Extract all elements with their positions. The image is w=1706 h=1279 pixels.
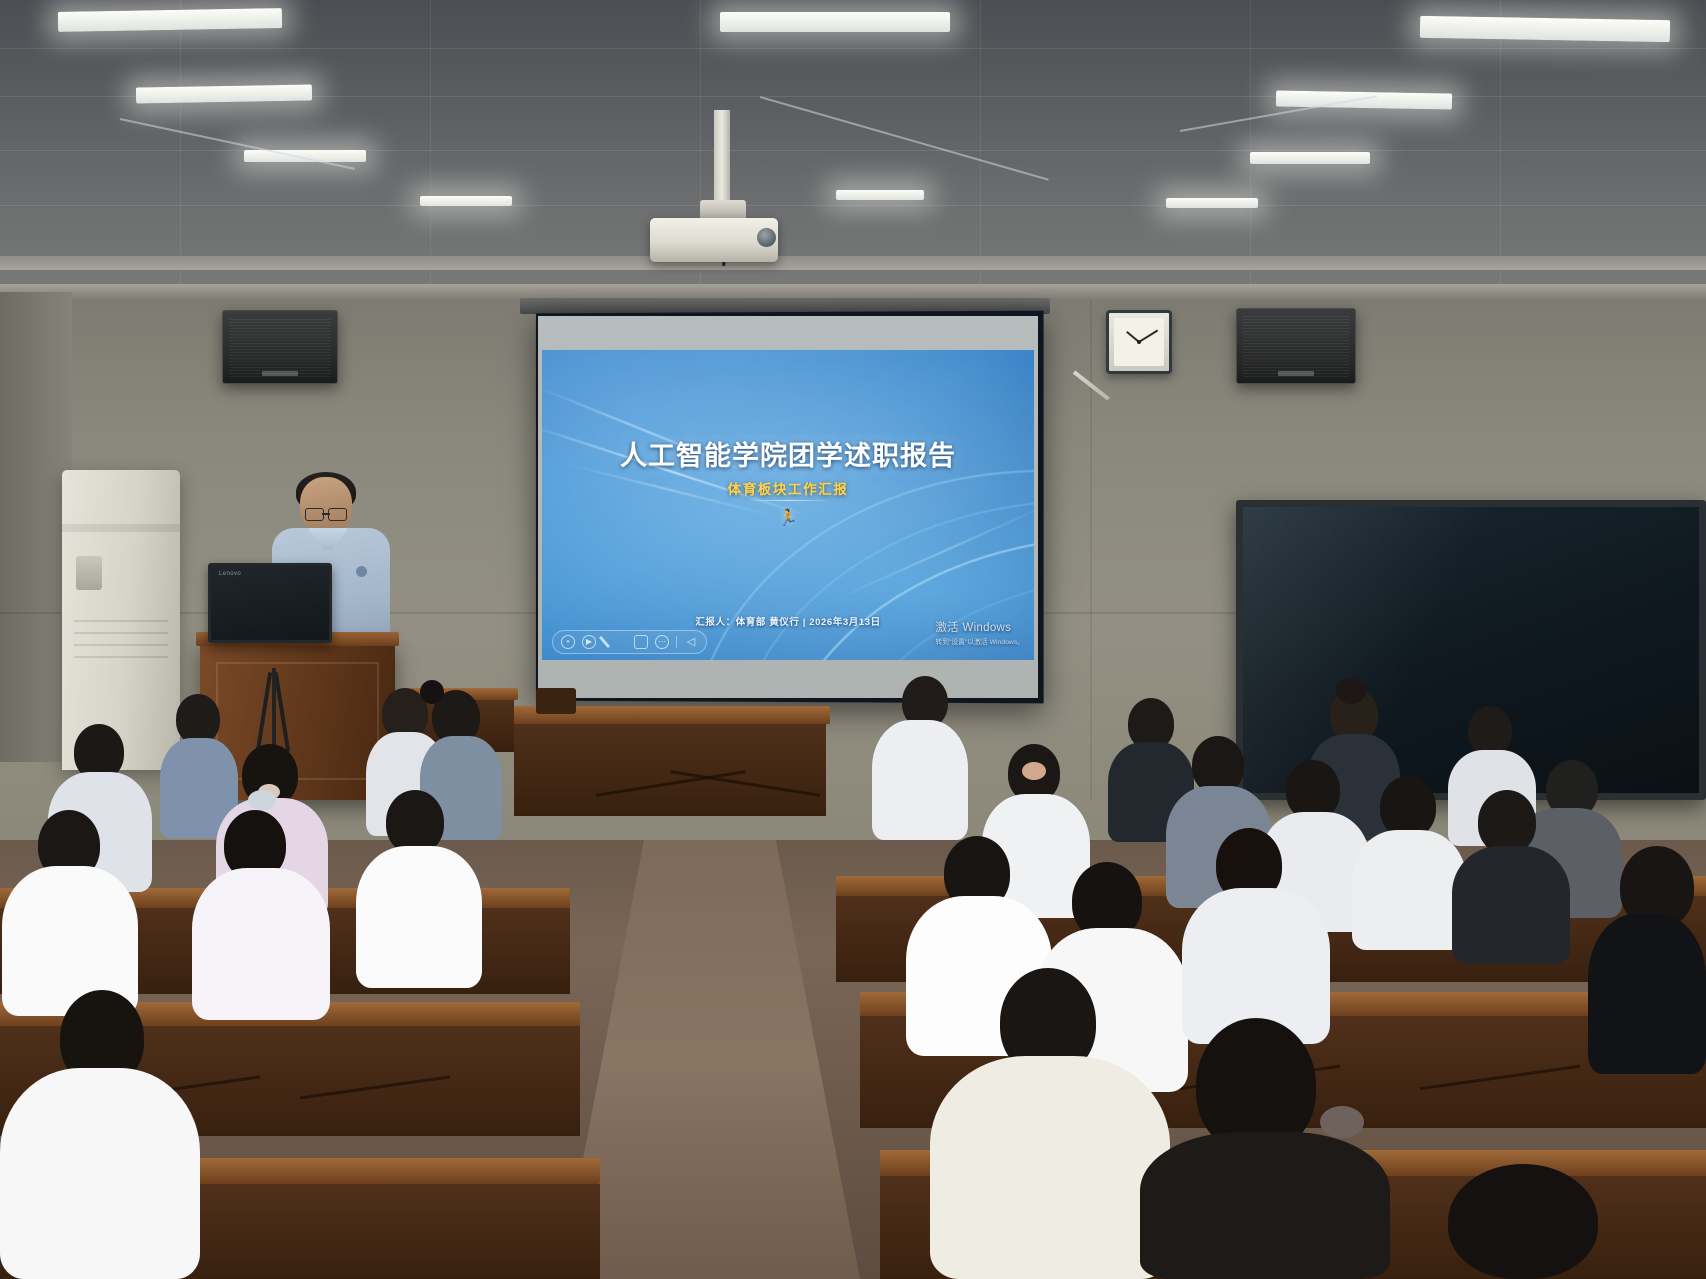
audience-head [1448,1164,1598,1279]
audience-body [192,868,330,1020]
presenter-head [300,477,352,533]
powerpoint-presenter-toolbar[interactable]: • ▶ ⋯ ◁ [552,630,707,654]
clock-face [1114,318,1164,366]
hair-tie [1022,762,1046,780]
audience-body [1352,830,1466,950]
slide-subtitle: 体育板块工作汇报 [542,478,1034,498]
chair-back [536,688,576,714]
audience-body [0,1068,200,1279]
ceiling-light [420,196,512,206]
more-options-icon[interactable]: ⋯ [655,635,669,649]
ceiling-beam [0,256,1706,270]
shirt-logo [356,566,367,577]
audience-head [176,694,220,744]
watermark-line-2: 转到"设置"以激活 Windows。 [935,636,1024,646]
lecture-hall-photo: 人工智能学院团学述职报告 体育板块工作汇报 🏃 汇报人：体育部 黄仪行 | 20… [0,0,1706,1279]
floor-standing-air-conditioner [62,470,180,770]
slide-title: 人工智能学院团学述职报告 [542,434,1034,473]
ceiling-light [244,150,366,162]
speaker-grille [229,317,331,377]
wall-clock [1106,310,1172,374]
audience-head [386,790,444,854]
clock-center-pin [1137,340,1141,344]
projector-pole [714,110,730,210]
laser-pointer-icon[interactable]: • [561,635,575,649]
audience-head [1380,776,1436,838]
previous-slide-icon[interactable]: ◁ [684,635,698,649]
eyeglasses-icon [305,508,347,519]
wall-speaker-right [1236,308,1356,384]
pen-icon[interactable] [599,636,610,649]
hair-bun [420,680,444,704]
monitor-brand-label: Lenovo [219,571,241,577]
ceiling-light [1166,198,1258,208]
wall-speaker-left [222,310,338,384]
speaker-grille [1243,315,1349,377]
audience-body [1452,846,1570,964]
speaker-badge [262,371,298,376]
projector-lens [757,228,776,247]
ac-control-panel [76,556,102,590]
windows-activation-watermark: 激活 Windows 转到"设置"以激活 Windows。 [935,619,1024,646]
ceiling-light [58,8,282,32]
lectern-panel [216,662,379,780]
watermark-line-1: 激活 Windows [935,619,1024,635]
audience-head [1478,790,1536,854]
podium-monitor: Lenovo [208,563,332,643]
ceiling-light [1420,16,1670,42]
ac-grille-strip [62,524,180,532]
toolbar-divider [676,636,677,648]
ceiling-light [720,12,950,32]
hair-tie [1320,1106,1364,1138]
tripod-leg [272,668,276,748]
audience-body [356,846,482,988]
hair-bun [1336,678,1366,704]
running-figure-icon: 🏃 [778,508,798,528]
ceiling-light [1250,152,1370,164]
ceiling-light [1276,90,1452,109]
ceiling [0,0,1706,300]
play-icon[interactable]: ▶ [582,635,596,649]
speaker-badge [1278,371,1314,376]
slide-subtitle-rule [745,500,831,501]
hair-tie [248,790,276,810]
ceiling-light [136,84,312,103]
display-reflection [1243,507,1699,793]
audience-head [1468,706,1512,756]
presentation-slide: 人工智能学院团学述职报告 体育板块工作汇报 🏃 汇报人：体育部 黄仪行 | 20… [542,350,1034,660]
zoom-rectangle-icon[interactable] [634,635,648,649]
audience-body [1588,914,1706,1074]
audience-body [930,1056,1170,1279]
clock-minute-hand [1138,329,1158,342]
audience-body [1140,1132,1390,1279]
audience-body [872,720,968,840]
ceiling-light [836,190,924,200]
audience-head [1286,760,1340,820]
slide-grid-icon[interactable] [613,635,627,649]
